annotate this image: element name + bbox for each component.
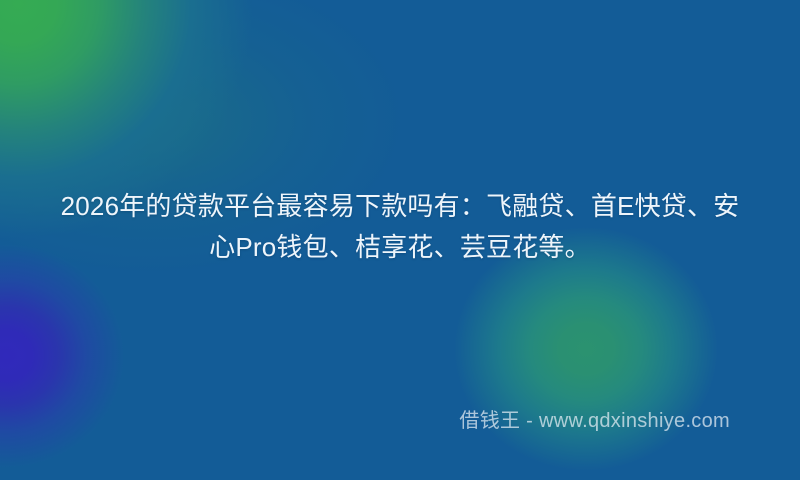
headline-text: 2026年的贷款平台最容易下款吗有：飞融贷、首E快贷、安心Pro钱包、桔享花、芸…: [0, 186, 800, 268]
watermark: 借钱王 - www.qdxinshiye.com: [459, 408, 730, 434]
banner-image: 2026年的贷款平台最容易下款吗有：飞融贷、首E快贷、安心Pro钱包、桔享花、芸…: [0, 0, 800, 480]
